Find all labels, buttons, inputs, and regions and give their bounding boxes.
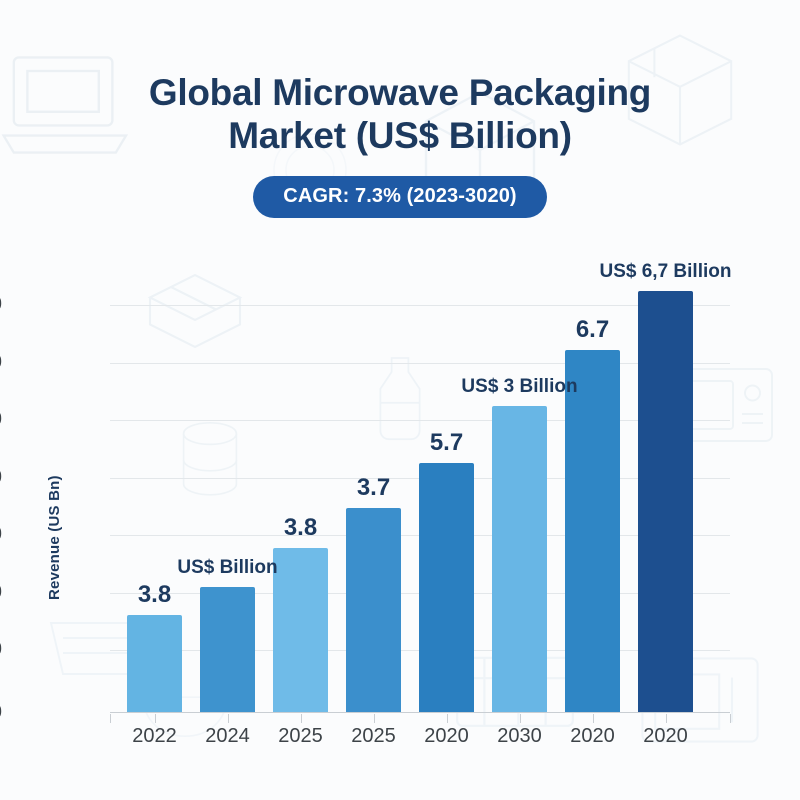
- bar-value-label: 5.7: [407, 429, 486, 457]
- x-tick: [301, 714, 302, 723]
- y-tick-label: 0: [0, 702, 2, 724]
- bar-value-label: 3.8: [261, 514, 340, 542]
- x-tick: [155, 714, 156, 723]
- bar[interactable]: [565, 350, 620, 713]
- y-tick-label: 1.0: [0, 639, 2, 661]
- bar-value-label: 3.7: [334, 474, 413, 502]
- y-tick-label: 3.0: [0, 409, 2, 431]
- bar[interactable]: [638, 291, 693, 713]
- y-tick-label: 1.0: [0, 582, 2, 604]
- y-axis-title: Revenue (US Bn): [46, 475, 63, 600]
- gridline: [110, 420, 730, 421]
- plot-area: 3.83.83.75.76.7US$ BillionUS$ 3 BillionU…: [110, 280, 730, 713]
- bar-value-label: 6.7: [553, 316, 632, 344]
- y-tick-label: 2.0: [0, 467, 2, 489]
- y-tick-label: 7.0: [0, 294, 2, 316]
- x-tick: [447, 714, 448, 723]
- bar-value-label: 3.8: [115, 581, 194, 609]
- x-axis: 20222024202520252020203020202020: [110, 713, 730, 763]
- cagr-badge: CAGR: 7.3% (2023-3020): [253, 176, 546, 218]
- bar[interactable]: [492, 406, 547, 713]
- x-axis-label: 2020: [623, 725, 708, 748]
- infographic-root: Global Microwave Packaging Market (US$ B…: [0, 0, 800, 800]
- x-tick: [110, 714, 111, 723]
- chart-header: Global Microwave Packaging Market (US$ B…: [0, 72, 800, 218]
- bar[interactable]: [346, 508, 401, 713]
- bar[interactable]: [419, 463, 474, 713]
- gridline: [110, 305, 730, 306]
- bar-annotation-label: US$ Billion: [135, 557, 320, 579]
- x-tick: [666, 714, 667, 723]
- x-tick: [228, 714, 229, 723]
- bar-annotation-label: US$ 6,7 Billion: [573, 261, 758, 283]
- y-tick-label: 6.0: [0, 352, 2, 374]
- gridline: [110, 363, 730, 364]
- y-tick-label: 1.0: [0, 524, 2, 546]
- page-title: Global Microwave Packaging Market (US$ B…: [0, 72, 800, 158]
- bar-annotation-label: US$ 3 Billion: [427, 376, 612, 398]
- bar[interactable]: [200, 587, 255, 713]
- x-tick: [730, 714, 731, 723]
- x-tick: [374, 714, 375, 723]
- bar[interactable]: [127, 615, 182, 713]
- x-tick: [593, 714, 594, 723]
- x-tick: [520, 714, 521, 723]
